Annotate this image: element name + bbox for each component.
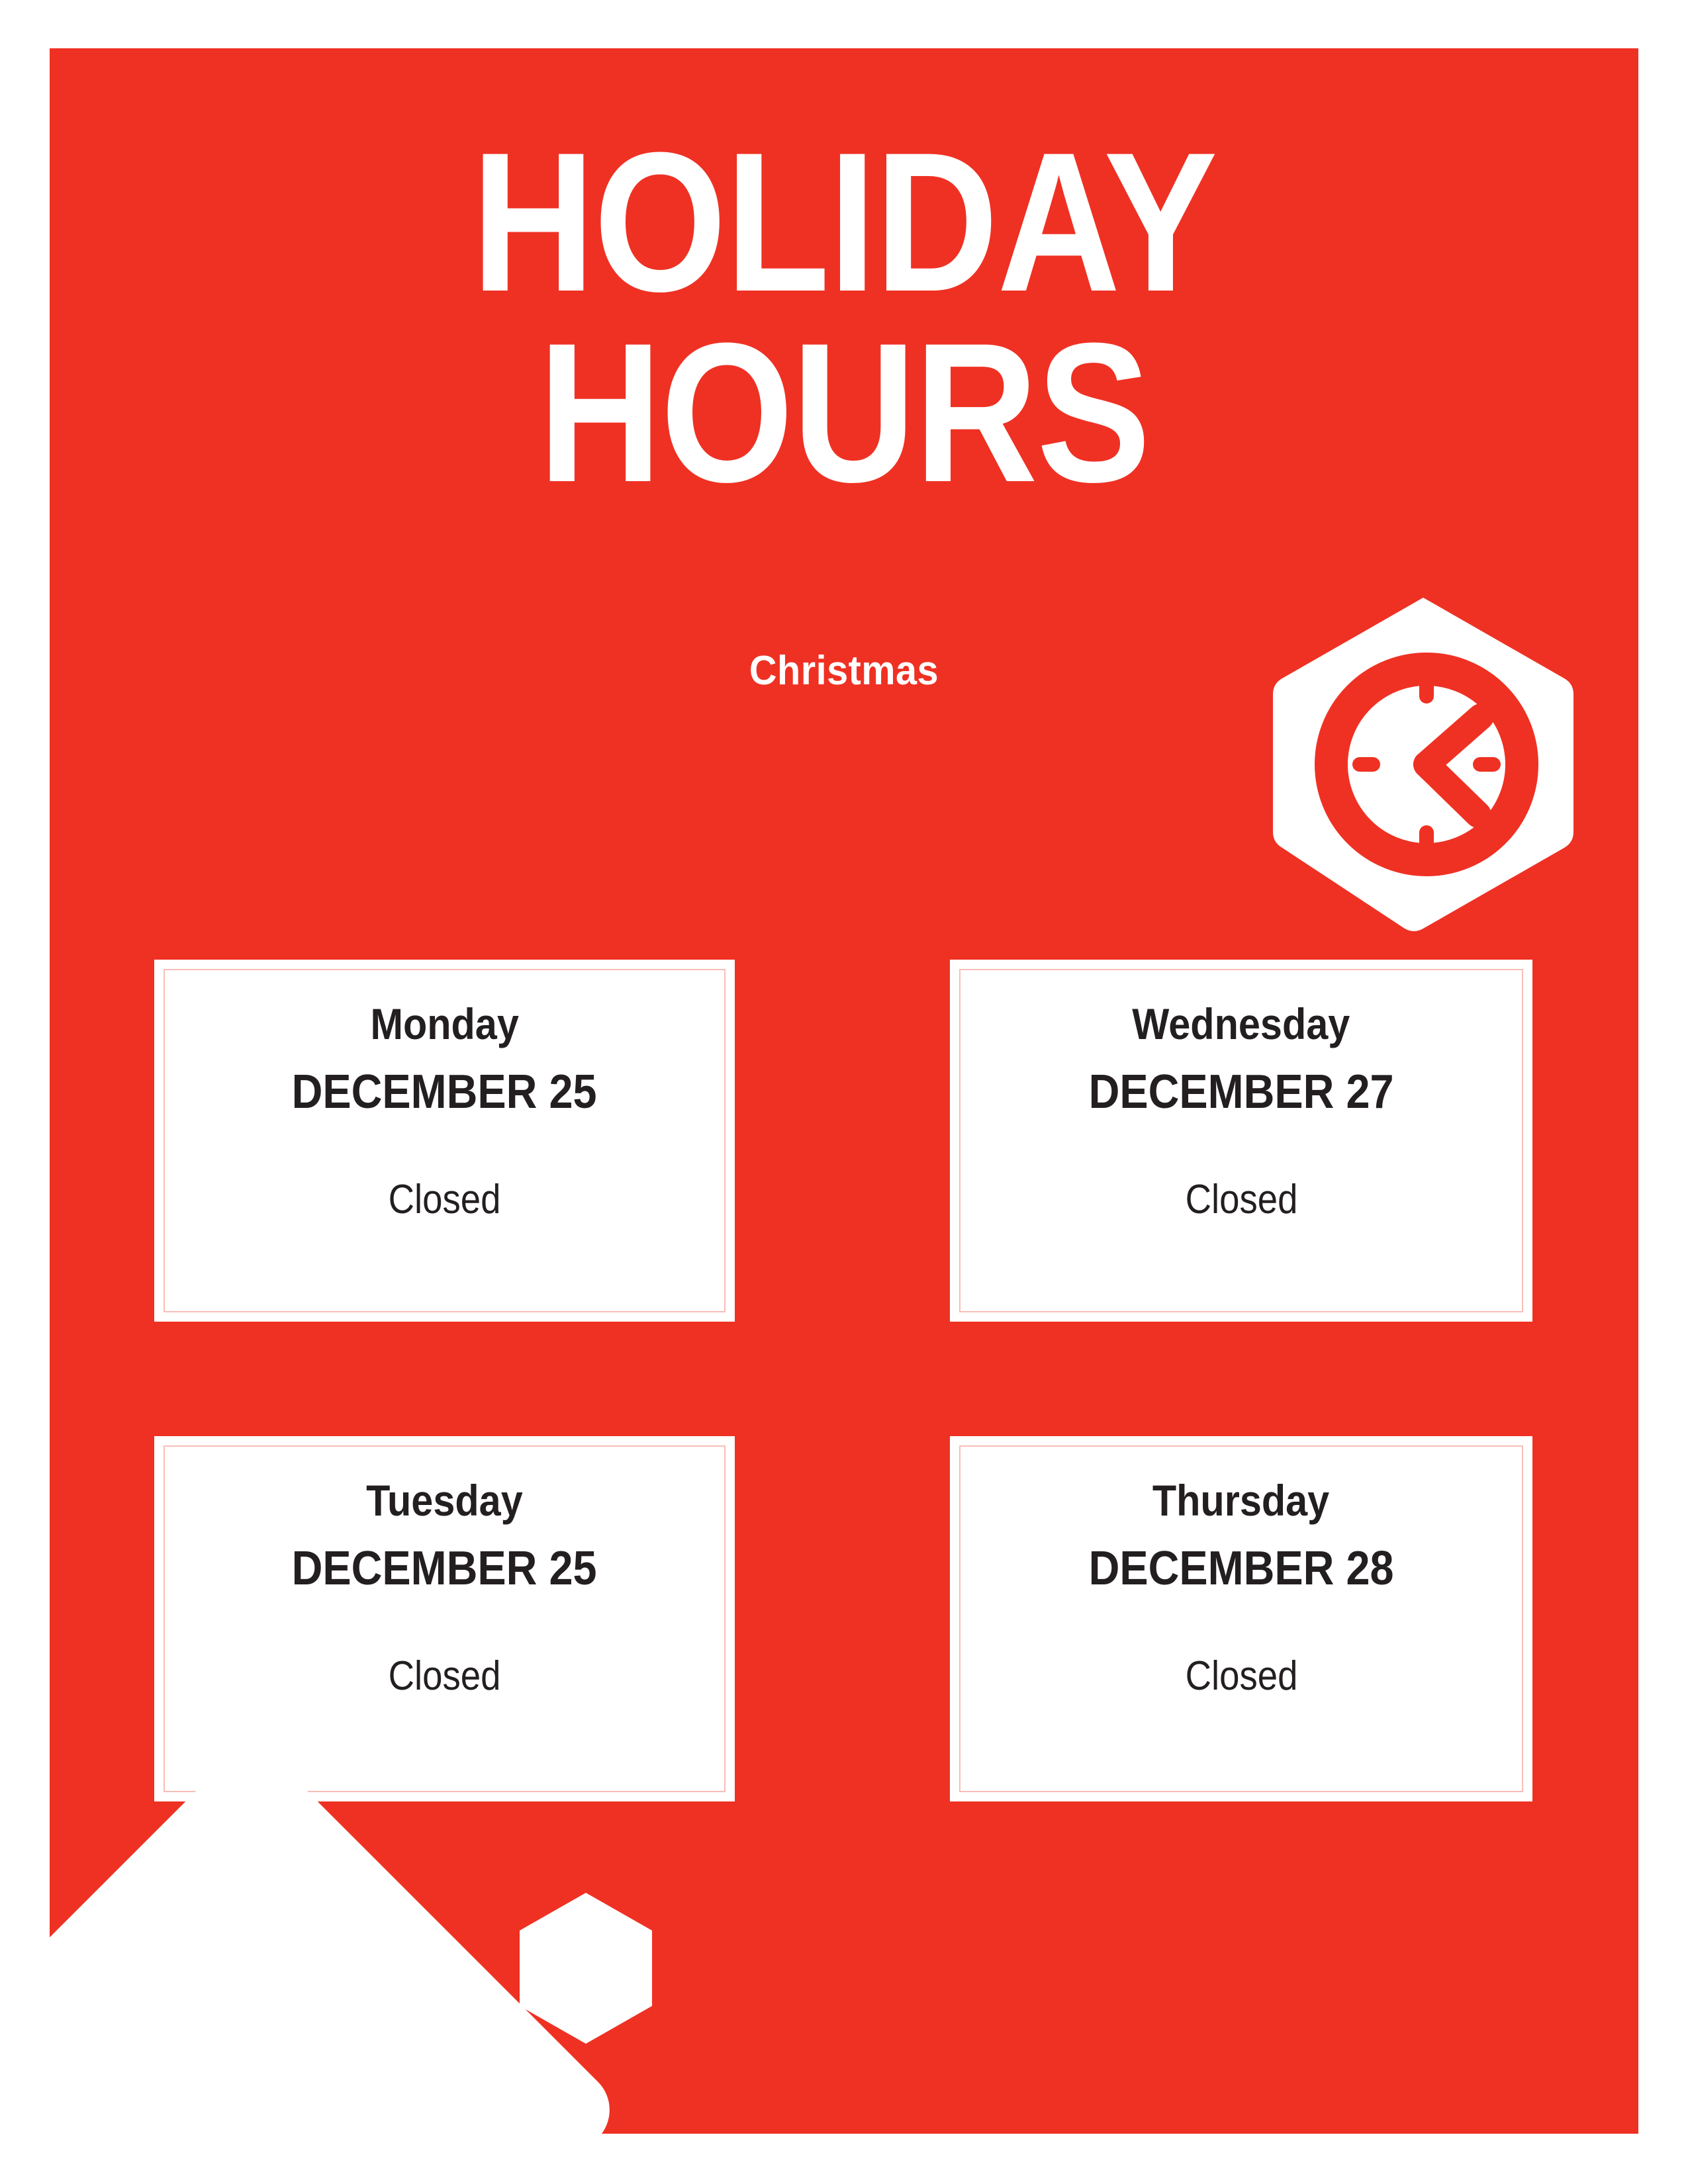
title-line-hours: HOURS	[161, 315, 1527, 510]
card-day-label: Monday	[370, 1002, 518, 1046]
decorative-small-hexagon-shape	[520, 1893, 652, 2044]
schedule-card: Thursday DECEMBER 28 Closed	[950, 1436, 1532, 1801]
card-inner-border: Tuesday DECEMBER 25 Closed	[164, 1445, 726, 1792]
schedule-card: Tuesday DECEMBER 25 Closed	[154, 1436, 735, 1801]
schedule-card: Wednesday DECEMBER 27 Closed	[950, 960, 1532, 1322]
card-inner-border: Thursday DECEMBER 28 Closed	[959, 1445, 1523, 1792]
card-status-label: Closed	[389, 1179, 501, 1220]
card-status-label: Closed	[389, 1656, 501, 1697]
clock-icon	[1331, 669, 1522, 860]
schedule-card: Monday DECEMBER 25 Closed	[154, 960, 735, 1322]
card-day-label: Tuesday	[366, 1479, 523, 1522]
card-inner-border: Wednesday DECEMBER 27 Closed	[959, 969, 1523, 1312]
card-inner-border: Monday DECEMBER 25 Closed	[164, 969, 726, 1312]
card-date-label: DECEMBER 25	[292, 1068, 597, 1116]
card-date-label: DECEMBER 28	[1089, 1545, 1394, 1592]
card-date-label: DECEMBER 25	[292, 1545, 597, 1592]
poster-canvas: HOLIDAY HOURS Christmas	[0, 0, 1688, 2184]
poster-background-panel: HOLIDAY HOURS Christmas	[50, 48, 1638, 2134]
title-line-holiday: HOLIDAY	[161, 124, 1527, 319]
page-title: HOLIDAY HOURS	[50, 124, 1638, 510]
card-status-label: Closed	[1185, 1179, 1297, 1220]
card-day-label: Wednesday	[1132, 1002, 1350, 1046]
clock-badge	[1268, 591, 1579, 935]
card-day-label: Thursday	[1152, 1479, 1329, 1522]
card-status-label: Closed	[1185, 1656, 1297, 1697]
card-date-label: DECEMBER 27	[1089, 1068, 1394, 1116]
